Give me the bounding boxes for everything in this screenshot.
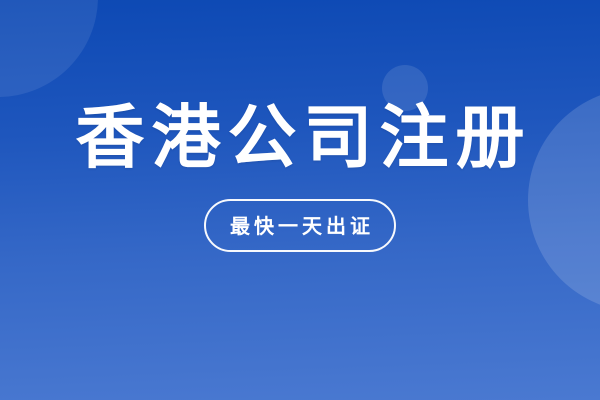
speed-badge: 最快一天出证: [204, 199, 396, 252]
banner-headline: 香港公司注册: [69, 104, 532, 173]
speed-badge-label: 最快一天出证: [226, 216, 374, 236]
promo-banner: 香港公司注册 最快一天出证: [0, 0, 600, 400]
banner-content: 香港公司注册 最快一天出证: [0, 0, 600, 400]
